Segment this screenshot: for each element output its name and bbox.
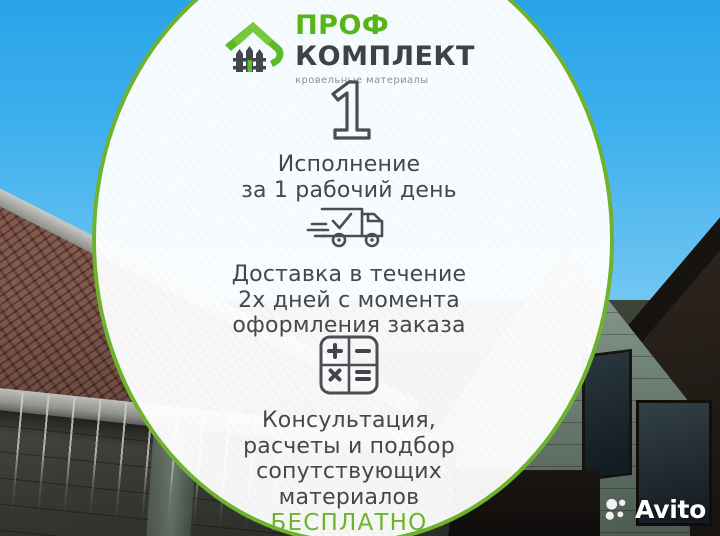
caption-line: материалов xyxy=(92,485,606,511)
free-highlight: БЕСПЛАТНО xyxy=(92,510,606,536)
house-roof-fence-icon xyxy=(223,20,285,78)
brand-name-line1: ПРОФ xyxy=(295,12,475,39)
caption-line: Консультация, xyxy=(92,408,606,434)
promo-image: ПРОФ КОМПЛЕКТ кровельные материалы Испол… xyxy=(0,0,720,536)
calculator-icon xyxy=(318,334,380,396)
brand-logo[interactable]: ПРОФ КОМПЛЕКТ кровельные материалы xyxy=(92,12,606,86)
caption-line: 2х дней с момента xyxy=(92,288,606,314)
caption-line: за 1 рабочий день xyxy=(92,178,606,204)
consultation-caption: Консультация, расчеты и подбор сопутству… xyxy=(92,408,606,536)
feature-block-delivery: Доставка в течение 2х дней с момента офо… xyxy=(92,202,606,339)
feature-block-consultation: Консультация, расчеты и подбор сопутству… xyxy=(92,334,606,536)
caption-line: Доставка в течение xyxy=(92,262,606,288)
avito-watermark: Avito xyxy=(605,495,706,524)
avito-dots-icon xyxy=(605,498,628,521)
caption-line: сопутствующих xyxy=(92,459,606,485)
execution-caption: Исполнение за 1 рабочий день xyxy=(92,152,606,203)
caption-line: Исполнение xyxy=(92,152,606,178)
delivery-caption: Доставка в течение 2х дней с момента офо… xyxy=(92,262,606,339)
info-circle-wrapper: ПРОФ КОМПЛЕКТ кровельные материалы Испол… xyxy=(92,0,606,536)
brand-name-line2: КОМПЛЕКТ xyxy=(295,43,475,70)
caption-line: расчеты и подбор xyxy=(92,434,606,460)
number-one-outline-icon xyxy=(313,76,385,142)
brand-wordmark: ПРОФ КОМПЛЕКТ кровельные материалы xyxy=(295,12,475,86)
circle-content: ПРОФ КОМПЛЕКТ кровельные материалы Испол… xyxy=(92,0,606,536)
delivery-truck-check-icon xyxy=(306,202,392,250)
feature-block-execution: Исполнение за 1 рабочий день xyxy=(92,76,606,203)
avito-label: Avito xyxy=(635,495,706,524)
